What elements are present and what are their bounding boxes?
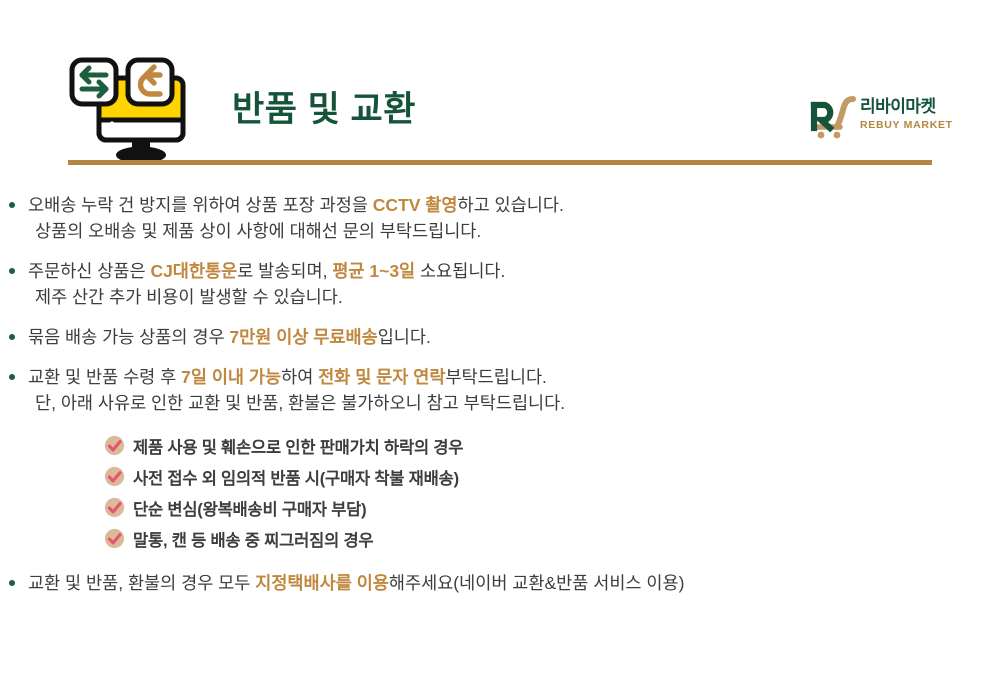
closing-note: 교환 및 반품, 환불의 경우 모두 지정택배사를 이용해주세요(네이버 교환&…: [0, 570, 1000, 596]
bullet-dot-icon: [9, 202, 15, 208]
list-item: 사전 접수 외 임의적 반품 시(구매자 착불 재배송): [104, 461, 1000, 492]
list-item: 단순 변심(왕복배송비 구매자 부담): [104, 492, 1000, 523]
brand-name-ko: 리바이마켓: [860, 98, 952, 117]
brand-logo: 리바이마켓 REBUY MARKET: [806, 94, 951, 146]
monitor-exchange-return-icon: [66, 54, 196, 166]
plain-text: 하고 있습니다.: [458, 195, 564, 215]
highlighted-text: 평균 1~3일: [332, 261, 415, 281]
brand-logo-text: 리바이마켓 REBUY MARKET: [860, 98, 952, 131]
plain-text: 주문하신 상품은: [28, 261, 150, 281]
plain-text: 교환 및 반품 수령 후: [28, 367, 181, 387]
check-circle-icon: [104, 466, 125, 487]
list-item-label: 제품 사용 및 훼손으로 인한 판매가치 하락의 경우: [133, 434, 463, 458]
highlighted-text: CJ대한통운: [150, 261, 237, 281]
list-item-label: 사전 접수 외 임의적 반품 시(구매자 착불 재배송): [133, 465, 459, 489]
bullet-dot-icon: [9, 268, 15, 274]
policy-paragraph: 주문하신 상품은 CJ대한통운로 발송되며, 평균 1~3일 소요됩니다.제주 …: [0, 258, 1000, 310]
plain-text: 입니다.: [378, 327, 431, 347]
plain-text: 로 발송되며,: [237, 261, 332, 281]
check-circle-icon: [104, 528, 125, 549]
non-returnable-reason-list: 제품 사용 및 훼손으로 인한 판매가치 하락의 경우사전 접수 외 임의적 반…: [104, 430, 1000, 554]
list-item: 말통, 캔 등 배송 중 찌그러짐의 경우: [104, 523, 1000, 554]
paragraph-line: 교환 및 반품, 환불의 경우 모두 지정택배사를 이용해주세요(네이버 교환&…: [28, 570, 1000, 596]
page-title: 반품 및 교환: [232, 92, 416, 127]
rebuy-market-cart-r-logo-icon: [806, 96, 858, 140]
page-header: 반품 및 교환 리바이마켓 REBUY MARKET: [0, 0, 1000, 175]
highlighted-text: 7일 이내 가능: [181, 367, 281, 387]
plain-text: 해주세요(네이버 교환&반품 서비스 이용): [389, 573, 685, 593]
policy-paragraph: 묶음 배송 가능 상품의 경우 7만원 이상 무료배송입니다.: [0, 324, 1000, 350]
list-item: 제품 사용 및 훼손으로 인한 판매가치 하락의 경우: [104, 430, 1000, 461]
check-circle-icon: [104, 497, 125, 518]
highlighted-text: 지정택배사를 이용: [255, 573, 389, 593]
highlighted-text: CCTV 촬영: [373, 195, 458, 215]
plain-text: 단, 아래 사유로 인한 교환 및 반품, 환불은 불가하오니 참고 부탁드립니…: [35, 393, 565, 413]
plain-text: 상품의 오배송 및 제품 상이 사항에 대해선 문의 부탁드립니다.: [35, 221, 481, 241]
plain-text: 교환 및 반품, 환불의 경우 모두: [28, 573, 255, 593]
check-circle-icon: [104, 435, 125, 456]
plain-text: 오배송 누락 건 방지를 위하여 상품 포장 과정을: [28, 195, 373, 215]
policy-paragraph: 교환 및 반품, 환불의 경우 모두 지정택배사를 이용해주세요(네이버 교환&…: [0, 570, 1000, 596]
bullet-dot-icon: [9, 334, 15, 340]
plain-text: 하여: [281, 367, 318, 387]
plain-text: 부탁드립니다.: [445, 367, 546, 387]
paragraph-line: 묶음 배송 가능 상품의 경우 7만원 이상 무료배송입니다.: [28, 324, 1000, 350]
bullet-dot-icon: [9, 580, 15, 586]
plain-text: 소요됩니다.: [415, 261, 505, 281]
brand-name-en: REBUY MARKET: [860, 119, 952, 131]
paragraph-continuation-line: 단, 아래 사유로 인한 교환 및 반품, 환불은 불가하오니 참고 부탁드립니…: [28, 390, 1000, 416]
paragraph-line: 주문하신 상품은 CJ대한통운로 발송되며, 평균 1~3일 소요됩니다.: [28, 258, 1000, 284]
paragraph-line: 교환 및 반품 수령 후 7일 이내 가능하여 전화 및 문자 연락부탁드립니다…: [28, 364, 1000, 390]
plain-text: 제주 산간 추가 비용이 발생할 수 있습니다.: [35, 287, 343, 307]
bullet-dot-icon: [9, 374, 15, 380]
paragraph-list: 오배송 누락 건 방지를 위하여 상품 포장 과정을 CCTV 촬영하고 있습니…: [0, 192, 1000, 416]
paragraph-continuation-line: 제주 산간 추가 비용이 발생할 수 있습니다.: [28, 284, 1000, 310]
highlighted-text: 7만원 이상 무료배송: [229, 327, 377, 347]
paragraph-line: 오배송 누락 건 방지를 위하여 상품 포장 과정을 CCTV 촬영하고 있습니…: [28, 192, 1000, 218]
policy-paragraph: 교환 및 반품 수령 후 7일 이내 가능하여 전화 및 문자 연락부탁드립니다…: [0, 364, 1000, 416]
policy-paragraph: 오배송 누락 건 방지를 위하여 상품 포장 과정을 CCTV 촬영하고 있습니…: [0, 192, 1000, 244]
list-item-label: 단순 변심(왕복배송비 구매자 부담): [133, 496, 366, 520]
list-item-label: 말통, 캔 등 배송 중 찌그러짐의 경우: [133, 527, 373, 551]
policy-content: 오배송 누락 건 방지를 위하여 상품 포장 과정을 CCTV 촬영하고 있습니…: [0, 192, 1000, 600]
paragraph-continuation-line: 상품의 오배송 및 제품 상이 사항에 대해선 문의 부탁드립니다.: [28, 218, 1000, 244]
highlighted-text: 전화 및 문자 연락: [318, 367, 445, 387]
header-divider: [68, 160, 932, 165]
plain-text: 묶음 배송 가능 상품의 경우: [28, 327, 229, 347]
